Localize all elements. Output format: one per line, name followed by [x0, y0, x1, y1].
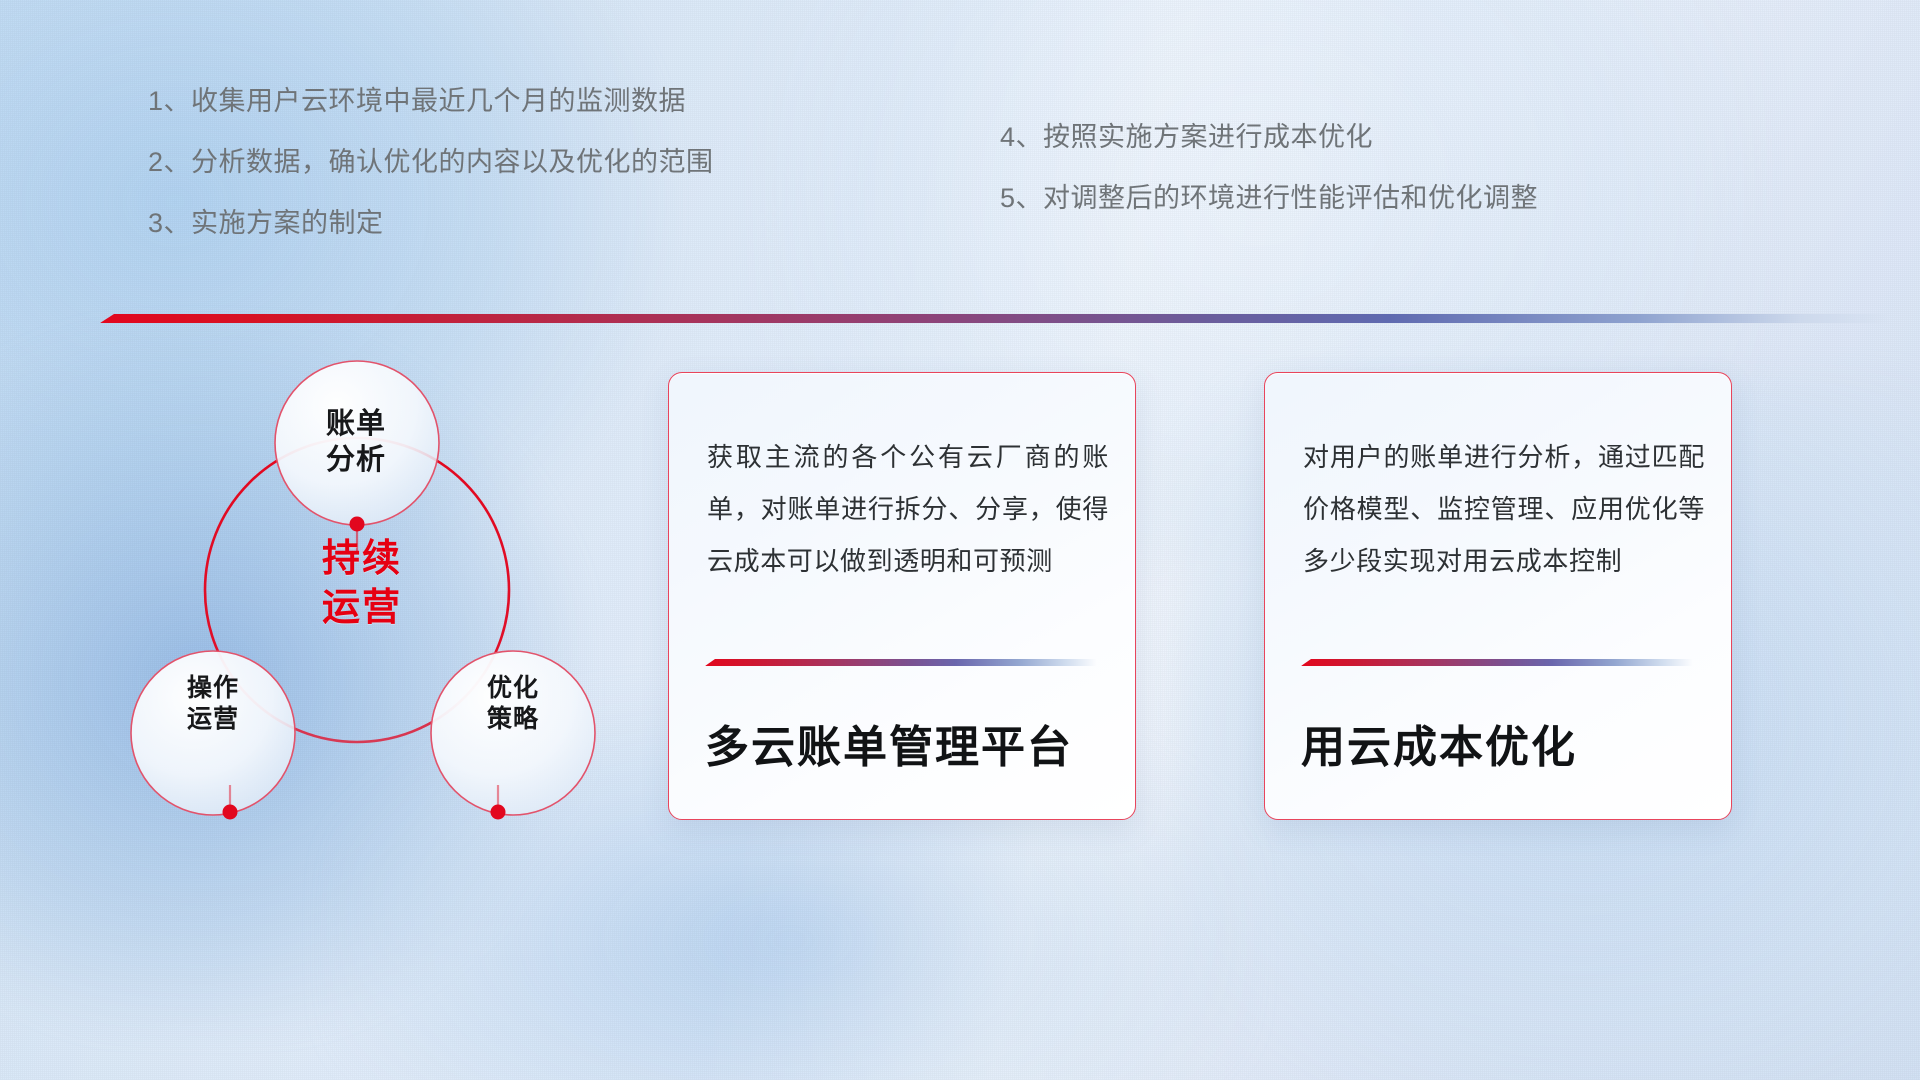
top-divider-bar — [100, 314, 1890, 323]
bubble-label-bill-analysis: 账单 分析 — [281, 407, 431, 479]
card-multi-cloud-billing-platform[interactable]: 获取主流的各个公有云厂商的账单，对账单进行拆分、分享，使得云成本可以做到透明和可… — [668, 372, 1136, 820]
step-item-2: 2、分析数据，确认优化的内容以及优化的范围 — [148, 149, 714, 176]
card-cloud-cost-optimization[interactable]: 对用户的账单进行分析，通过匹配价格模型、监控管理、应用优化等多少段实现对用云成本… — [1264, 372, 1732, 820]
card-title: 用云成本优化 — [1301, 711, 1705, 775]
steps-left-column: 1、收集用户云环境中最近几个月的监测数据 2、分析数据，确认优化的内容以及优化的… — [148, 88, 714, 271]
step-item-3: 3、实施方案的制定 — [148, 210, 714, 237]
steps-section: 1、收集用户云环境中最近几个月的监测数据 2、分析数据，确认优化的内容以及优化的… — [0, 88, 1920, 253]
steps-right-column: 4、按照实施方案进行成本优化 5、对调整后的环境进行性能评估和优化调整 — [1000, 124, 1538, 246]
bubble-label-ops-operation: 操作 运营 — [143, 673, 283, 735]
card-divider — [705, 659, 1097, 666]
card-body-text: 获取主流的各个公有云厂商的账单，对账单进行拆分、分享，使得云成本可以做到透明和可… — [707, 431, 1109, 587]
card-title: 多云账单管理平台 — [705, 711, 1109, 775]
step-item-4: 4、按照实施方案进行成本优化 — [1000, 124, 1538, 151]
card-divider — [1301, 659, 1693, 666]
step-item-1: 1、收集用户云环境中最近几个月的监测数据 — [148, 88, 714, 115]
step-item-5: 5、对调整后的环境进行性能评估和优化调整 — [1000, 185, 1538, 212]
continuous-operation-diagram: 账单 分析 操作 运营 优化 策略 持续 运营 — [95, 355, 615, 915]
bubble-label-optimize-policy: 优化 策略 — [443, 673, 583, 735]
diagram-center-label: 持续 运营 — [287, 535, 437, 632]
card-body-text: 对用户的账单进行分析，通过匹配价格模型、监控管理、应用优化等多少段实现对用云成本… — [1303, 431, 1705, 587]
